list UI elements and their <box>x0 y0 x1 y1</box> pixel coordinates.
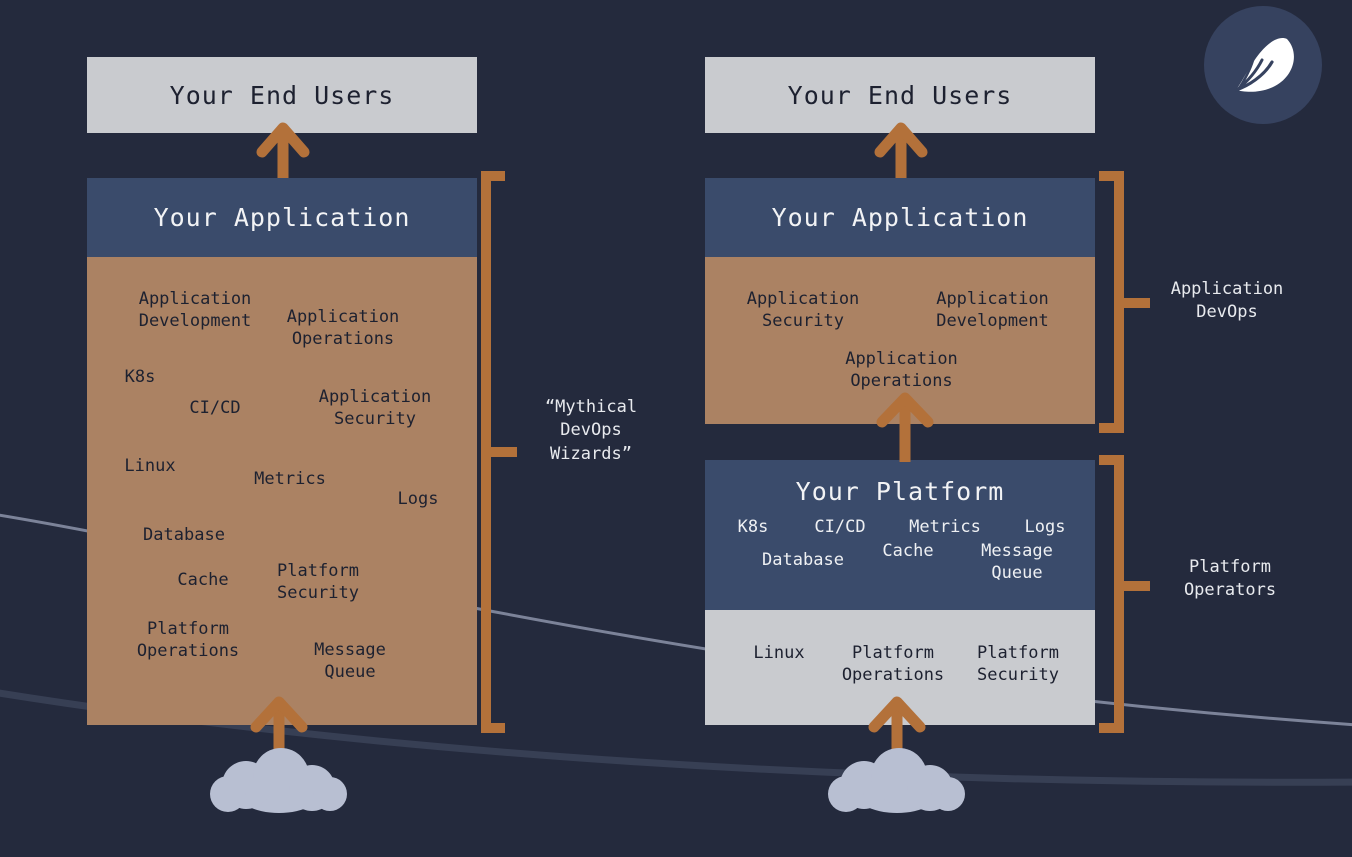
right-platform-label: Your Platform <box>796 477 1005 506</box>
right-end-users-label: Your End Users <box>788 81 1013 110</box>
left-end-users-label: Your End Users <box>170 81 395 110</box>
chip-platform-metrics: Metrics <box>895 516 995 538</box>
cloud-icon-left <box>210 748 347 813</box>
chip-platform-logs: Logs <box>1014 516 1076 538</box>
arrow-up-icon-left-top <box>262 128 304 178</box>
brand-logo <box>1204 6 1322 124</box>
chip-database: Database <box>124 524 244 546</box>
chip-platform-k8s: K8s <box>723 516 783 538</box>
chip-infra-linux: Linux <box>740 642 818 664</box>
chip-application-operations: Application Operations <box>268 306 418 351</box>
diagram-canvas: Your End Users Your Application Applicat… <box>0 0 1352 857</box>
chip-platform-security: Platform Security <box>258 560 378 605</box>
platform-operators-label: Platform Operators <box>1160 556 1300 602</box>
application-devops-label: Application DevOps <box>1152 278 1302 324</box>
left-application-label: Your Application <box>154 203 411 232</box>
left-bracket <box>486 176 512 728</box>
platform-operators-bracket <box>1104 460 1145 728</box>
application-devops-bracket <box>1104 176 1145 428</box>
right-application-box: Your Application <box>705 178 1095 257</box>
chip-metrics: Metrics <box>240 468 340 490</box>
chip-platform-cache: Cache <box>866 540 950 562</box>
chip-k8s: K8s <box>110 366 170 388</box>
arrow-up-icon-right-top <box>880 128 922 178</box>
chip-right-application-security: Application Security <box>728 288 878 333</box>
chip-cicd: CI/CD <box>175 397 255 419</box>
left-end-users-box: Your End Users <box>87 57 477 133</box>
chip-application-development: Application Development <box>120 288 270 333</box>
chip-linux: Linux <box>110 455 190 477</box>
chip-logs: Logs <box>388 488 448 510</box>
right-application-label: Your Application <box>772 203 1029 232</box>
chip-right-application-development: Application Development <box>915 288 1070 333</box>
chip-platform-database: Database <box>748 549 858 571</box>
left-application-box: Your Application <box>87 178 477 257</box>
chip-right-application-operations: Application Operations <box>824 348 979 393</box>
mythical-devops-wizards-label: “Mythical DevOps Wizards” <box>518 396 664 466</box>
chip-infra-platform-operations: Platform Operations <box>828 642 958 687</box>
chip-infra-platform-security: Platform Security <box>958 642 1078 687</box>
cloud-icon-right <box>828 748 965 813</box>
chip-platform-cicd: CI/CD <box>800 516 880 538</box>
chip-platform-message-queue: Message Queue <box>957 540 1077 585</box>
swirl-shell-icon <box>1204 6 1322 124</box>
right-application-responsibilities-box <box>705 257 1095 424</box>
chip-message-queue: Message Queue <box>290 639 410 684</box>
chip-application-security: Application Security <box>300 386 450 431</box>
chip-cache: Cache <box>158 569 248 591</box>
chip-platform-operations: Platform Operations <box>118 618 258 663</box>
right-end-users-box: Your End Users <box>705 57 1095 133</box>
